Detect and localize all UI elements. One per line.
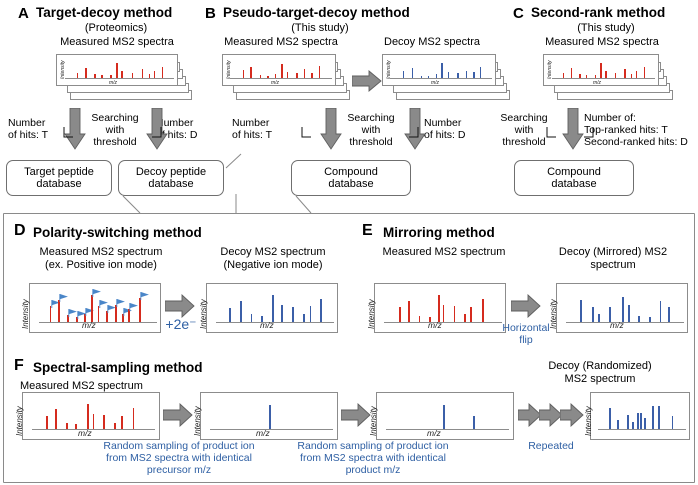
panel-f-title: Spectral-sampling method: [33, 361, 203, 375]
panel-d-decoy-x-axis-label: m/z: [260, 320, 274, 330]
panel-b-spectra-label-right: Decoy MS2 spectra: [367, 36, 497, 49]
spectrum-peak: [310, 306, 312, 323]
flag-icon: [85, 308, 94, 317]
panel-a-spectra-stack: Intensity m/z: [56, 54, 192, 104]
panel-a-elbow-left: [62, 126, 84, 140]
panel-c-elbow-right: [573, 126, 595, 140]
panel-b-subtitle: (This study): [240, 22, 400, 34]
spectrum-peak: [438, 295, 440, 323]
panel-d-measured-y-axis-label: Intensity: [21, 299, 30, 329]
panel-f-annotation-2: Random sampling of product ion from MS2 …: [280, 440, 466, 476]
spectrum-peak: [592, 307, 594, 323]
spectrum-peak: [637, 413, 639, 430]
spectrum-peak: [628, 305, 630, 323]
spectrum-peak: [269, 405, 271, 430]
panel-e-right-caption: Decoy (Mirrored) MS2 spectrum: [538, 246, 688, 271]
panel-b-measured-y-axis-label: Intensity: [226, 60, 232, 79]
panel-e-decoy-x-axis-label: m/z: [610, 320, 624, 330]
panel-a-title: Target-decoy method: [36, 6, 172, 20]
panel-f-sample2-spectrum-plot: [376, 392, 514, 440]
panel-d-title: Polarity-switching method: [33, 226, 202, 240]
panel-f-decoy-y-axis-label: Intensity: [584, 406, 593, 436]
panel-e-transform-arrow: [511, 294, 541, 318]
flag-icon: [99, 300, 108, 309]
panel-b-decoy-x-axis-label: m/z: [431, 80, 439, 86]
panel-b-decoy-spectra-stack: Intensity m/z: [382, 54, 510, 104]
spectrum-baseline: [552, 78, 655, 79]
flag-icon: [129, 303, 138, 312]
panel-d-annotation: +2e⁻: [158, 318, 204, 330]
spectrum-peak: [133, 408, 135, 430]
panel-f-letter: F: [14, 358, 24, 373]
panel-b-left-hits-label: Number of hits: T: [232, 117, 296, 141]
panel-b-elbow-left: [300, 126, 322, 140]
spectrum-baseline: [230, 78, 332, 79]
panel-a-subtitle: (Proteomics): [36, 22, 196, 34]
panel-d-letter: D: [14, 223, 26, 238]
spectrum-peak: [55, 409, 57, 430]
spectrum-peak: [229, 308, 231, 323]
panel-f-measured-y-axis-label: Intensity: [15, 406, 24, 436]
panel-d-right-caption: Decoy MS2 spectrum (Negative ion mode): [196, 246, 350, 271]
spectrum-peak: [281, 305, 283, 323]
panel-e-left-caption: Measured MS2 spectrum: [366, 246, 522, 259]
spectrum-baseline: [65, 78, 174, 79]
panel-b-elbow-right: [398, 126, 420, 140]
panel-c-y-axis-label: Intensity: [547, 60, 553, 79]
panel-f-arrow-1: [163, 403, 193, 427]
flag-icon: [116, 299, 125, 308]
panel-f-right-caption: Decoy (Randomized) MS2 spectrum: [510, 360, 690, 385]
spectrum-peak: [580, 300, 582, 323]
spectrum-baseline: [32, 429, 155, 430]
panel-d-measured-x-axis-label: m/z: [82, 320, 96, 330]
spectrum-baseline: [216, 322, 334, 323]
panel-b-measured-x-axis-label: m/z: [271, 80, 279, 86]
panel-f-sample2-y-axis-label: Intensity: [369, 406, 378, 436]
panel-f-arrow-2: [341, 403, 371, 427]
panel-b-decoy-spectrum-plot: Intensity m/z: [382, 54, 496, 86]
spectrum-peak: [240, 301, 242, 323]
spectrum-peak: [640, 413, 642, 430]
panel-e-annotation: Horizontal flip: [495, 322, 557, 346]
spectrum-peak: [627, 415, 629, 430]
panel-b-transform-arrow: [352, 70, 382, 92]
panel-a-letter: A: [18, 6, 29, 21]
panel-f-annotation-3: Repeated: [506, 440, 596, 452]
spectrum-peak: [46, 416, 48, 430]
spectrum-baseline: [39, 322, 157, 323]
spectrum-peak: [454, 306, 456, 323]
panel-f-left-caption: Measured MS2 spectrum: [20, 380, 180, 393]
panel-a-elbow-right: [141, 126, 163, 140]
spectrum-peak: [103, 415, 105, 430]
spectrum-peak: [473, 416, 475, 430]
panel-a-spectra-label: Measured MS2 spectra: [22, 36, 212, 49]
figure-canvas: A Target-decoy method (Proteomics) Measu…: [0, 0, 698, 485]
spectrum-baseline: [386, 429, 509, 430]
spectrum-peak: [139, 298, 141, 323]
spectrum-baseline: [598, 429, 687, 430]
spectrum-peak: [408, 301, 410, 323]
panel-c-x-axis-label: m/z: [593, 80, 601, 86]
panel-b-spectra-label-left: Measured MS2 spectra: [211, 36, 351, 49]
panel-f-decoy-spectrum-plot: [590, 392, 690, 440]
spectrum-peak: [320, 299, 322, 323]
panel-b-measured-spectra-stack: Intensity m/z: [222, 54, 350, 104]
spectrum-peak: [660, 301, 662, 323]
spectrum-baseline: [384, 322, 502, 323]
spectrum-peak: [116, 63, 117, 79]
spectrum-peak: [668, 307, 670, 323]
panel-d-decoy-y-axis-label: Intensity: [199, 299, 208, 329]
panel-f-sample1-y-axis-label: Intensity: [193, 406, 202, 436]
panel-e-measured-y-axis-label: Intensity: [367, 299, 376, 329]
panel-c-spectra-label: Measured MS2 spectra: [512, 36, 692, 49]
spectrum-peak: [93, 414, 95, 430]
spectrum-baseline: [390, 78, 492, 79]
spectrum-peak: [470, 307, 472, 323]
spectrum-peak: [399, 307, 401, 323]
panel-c-subtitle: (This study): [531, 22, 681, 34]
spectrum-peak: [482, 299, 484, 323]
panel-d-transform-arrow: [165, 294, 195, 318]
panel-a-left-hits-label: Number of hits: T: [8, 117, 70, 141]
flag-icon: [140, 292, 149, 301]
panel-c-spectra-stack: Intensity m/z: [543, 54, 673, 104]
spectrum-peak: [443, 305, 445, 323]
panel-c-letter: C: [513, 6, 524, 21]
flag-icon: [59, 294, 68, 303]
panel-b-decoy-y-axis-label: Intensity: [386, 60, 392, 79]
panel-f-sample2-x-axis-label: m/z: [427, 428, 441, 438]
spectrum-peak: [281, 64, 282, 79]
panel-c-elbow-left: [545, 126, 567, 140]
spectrum-peak: [658, 406, 660, 430]
panel-d-left-caption: Measured MS2 spectrum (ex. Positive ion …: [16, 246, 186, 271]
spectrum-peak: [443, 405, 445, 430]
panel-b-right-hits-label: Number of hits: D: [424, 117, 488, 141]
spectrum-peak: [87, 404, 89, 430]
panel-a-x-axis-label: m/z: [109, 80, 117, 86]
panel-e-title: Mirroring method: [383, 226, 495, 240]
spectrum-peak: [121, 416, 123, 430]
spectrum-peak: [652, 406, 654, 430]
panel-e-letter: E: [362, 223, 373, 238]
connector-a-to-d: [0, 140, 698, 220]
spectrum-peak: [600, 63, 601, 79]
panel-f-arrow-3c: [560, 403, 584, 427]
flag-icon: [92, 289, 101, 298]
panel-b-title: Pseudo-target-decoy method: [223, 6, 410, 20]
panel-a-spectrum-plot: Intensity m/z: [56, 54, 178, 86]
spectrum-peak: [292, 307, 294, 323]
panel-f-annotation-1: Random sampling of product ion from MS2 …: [86, 440, 272, 476]
panel-e-decoy-y-axis-label: Intensity: [549, 299, 558, 329]
spectrum-peak: [609, 408, 611, 430]
panel-b-measured-spectrum-plot: Intensity m/z: [222, 54, 336, 86]
panel-a-y-axis-label: Intensity: [60, 60, 66, 79]
panel-b-letter: B: [205, 6, 216, 21]
panel-f-sample1-x-axis-label: m/z: [256, 428, 270, 438]
panel-f-measured-x-axis-label: m/z: [78, 428, 92, 438]
spectrum-baseline: [210, 429, 333, 430]
spectrum-peak: [441, 63, 442, 79]
spectrum-peak: [58, 300, 60, 323]
spectrum-peak: [272, 295, 274, 323]
panel-c-spectrum-plot: Intensity m/z: [543, 54, 659, 86]
spectrum-peak: [672, 416, 674, 430]
panel-c-title: Second-rank method: [531, 6, 665, 20]
spectrum-peak: [91, 295, 93, 323]
spectrum-baseline: [566, 322, 684, 323]
panel-e-measured-x-axis-label: m/z: [428, 320, 442, 330]
